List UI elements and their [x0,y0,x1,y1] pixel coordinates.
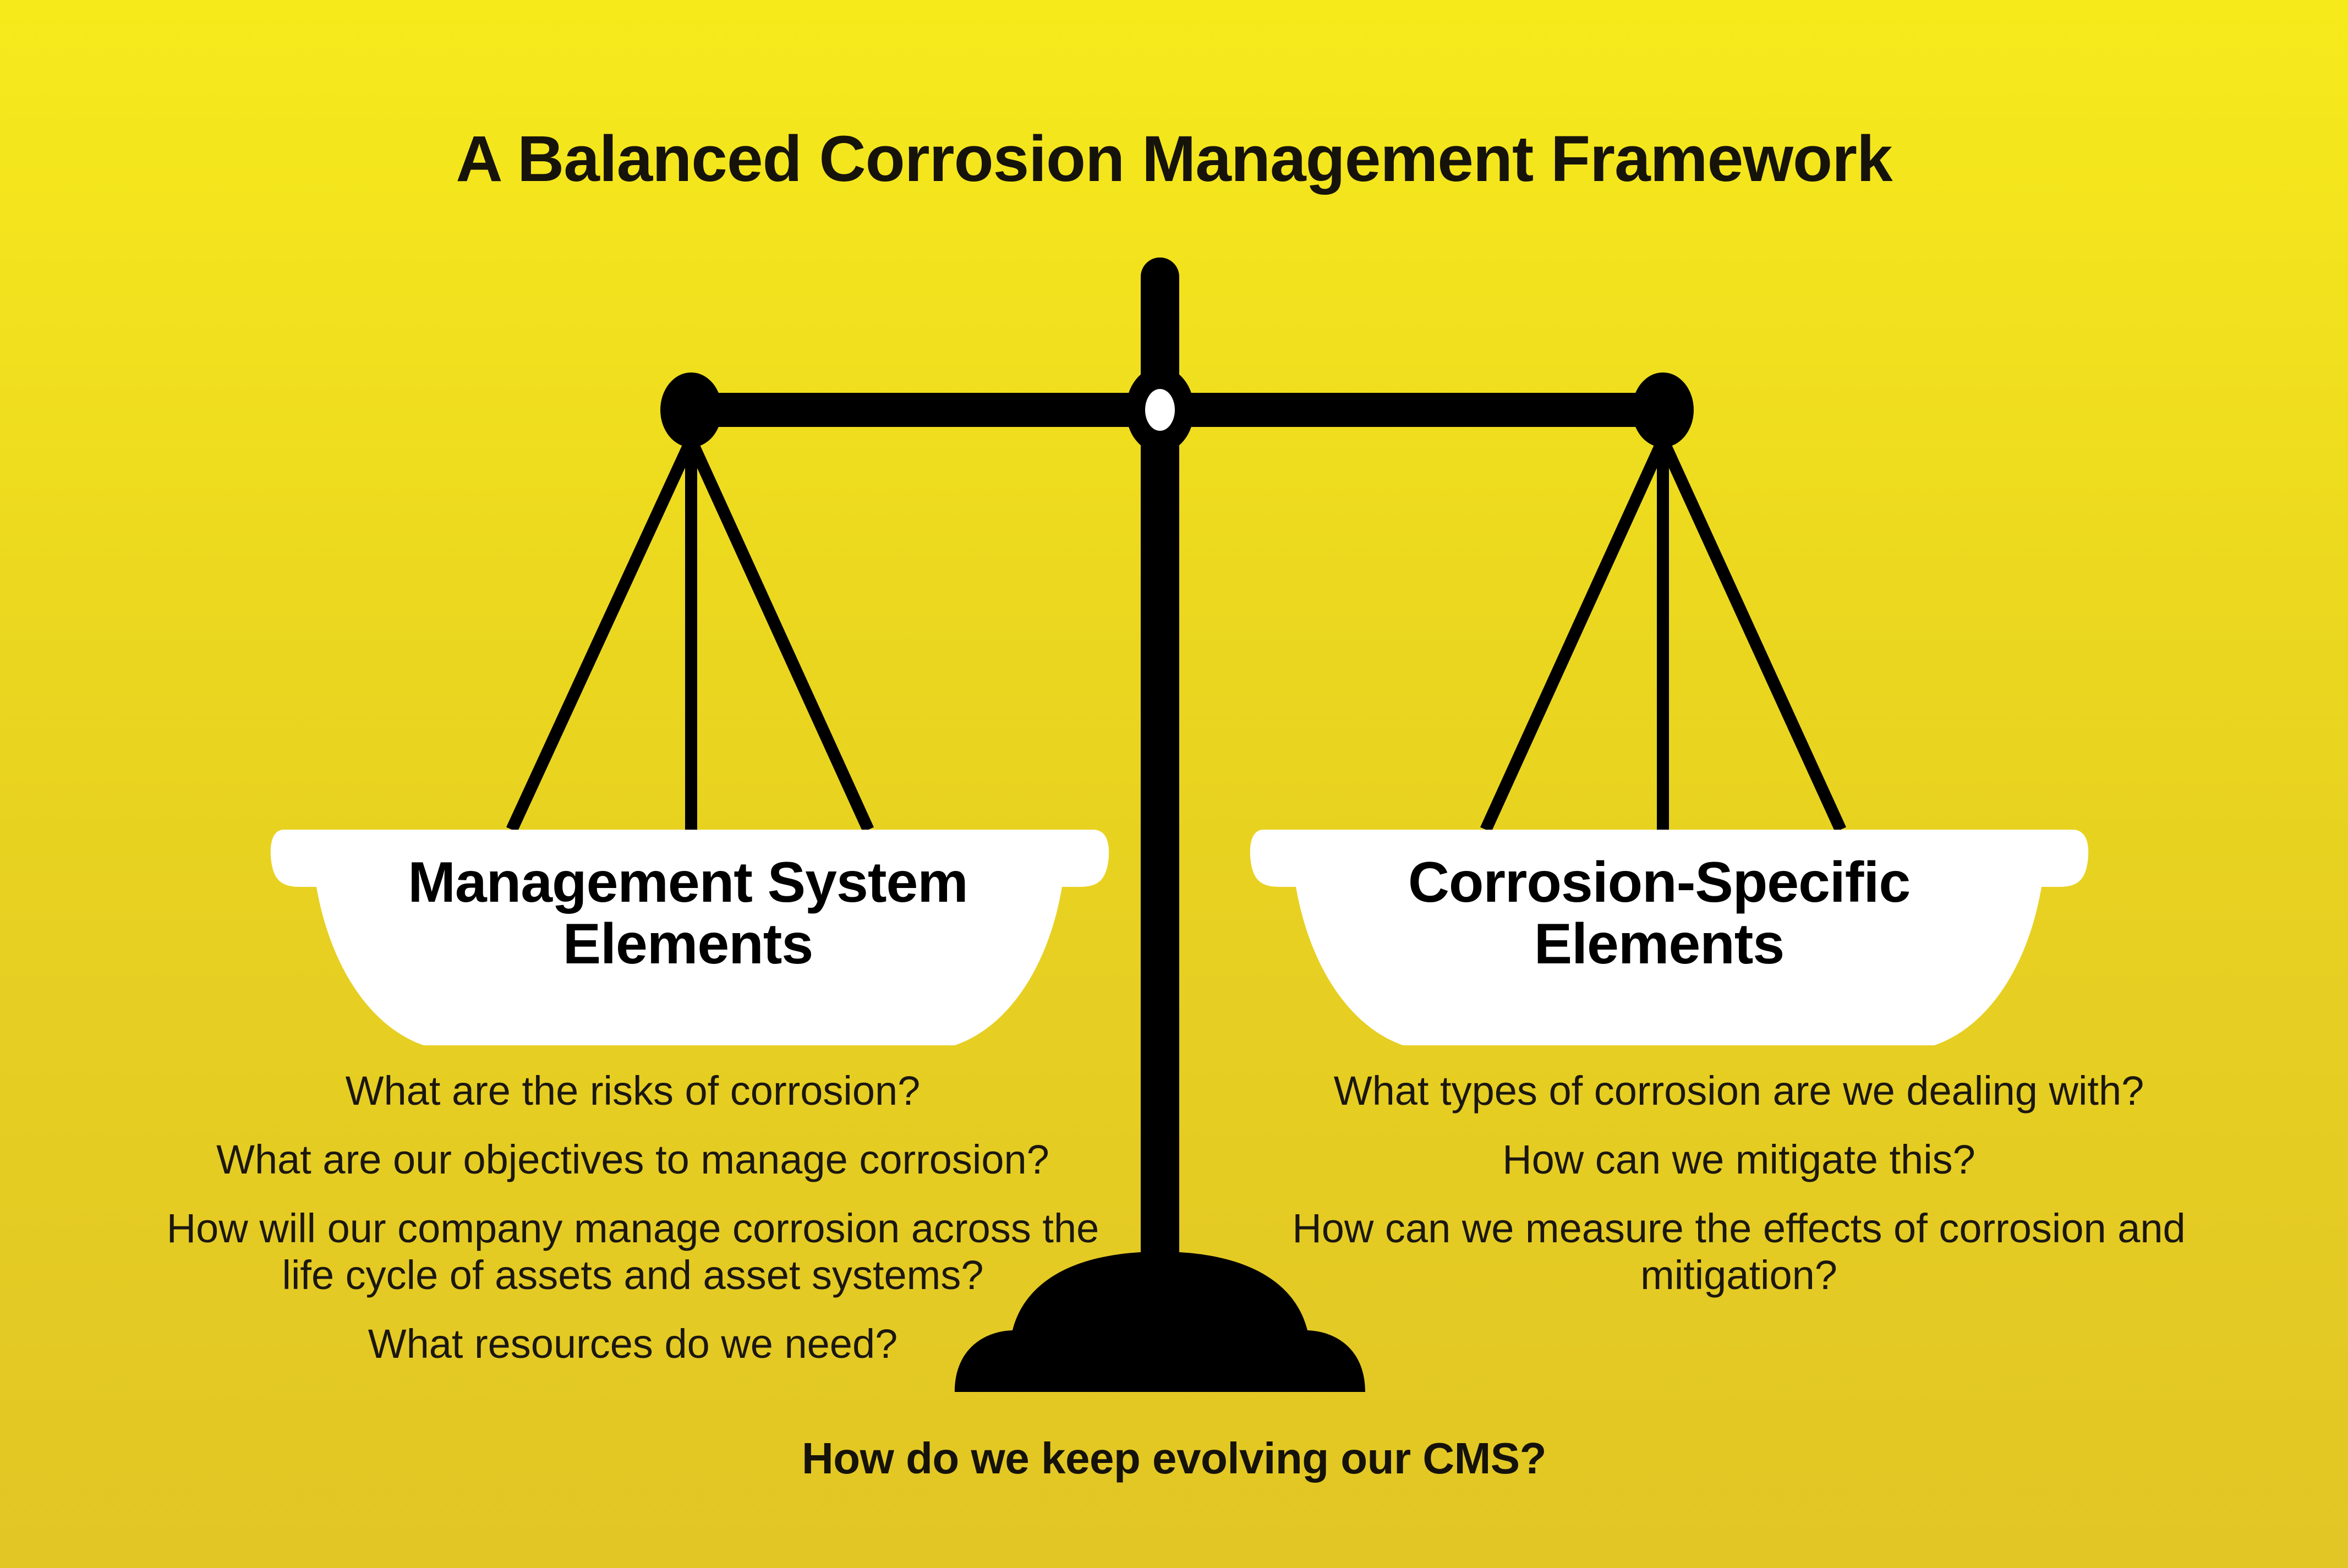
scale-beam-knob-right [1632,372,1694,447]
pan-label-left-line1: Management System [308,852,1068,913]
question-item: What are our objectives to manage corros… [165,1136,1101,1183]
scale-pivot-hole [1145,389,1175,431]
question-list-right: What types of corrosion are we dealing w… [1277,1067,2201,1298]
question-item: What types of corrosion are we dealing w… [1277,1067,2201,1114]
question-item: How can we measure the effects of corros… [1277,1205,2201,1298]
pan-label-left: Management System Elements [308,852,1068,975]
infographic-canvas: A Balanced Corrosion Management Framewor… [0,0,2348,1568]
pan-label-right: Corrosion-Specific Elements [1271,852,2047,975]
question-item: How can we mitigate this? [1277,1136,2201,1183]
question-item: What are the risks of corrosion? [165,1067,1101,1114]
pan-label-left-line2: Elements [308,913,1068,975]
scale-beam-knob-left [660,372,722,447]
scale-strings-left [512,440,868,830]
question-list-left: What are the risks of corrosion? What ar… [165,1067,1101,1367]
question-item: What resources do we need? [165,1320,1101,1367]
pan-label-right-line1: Corrosion-Specific [1271,852,2047,913]
bottom-caption: How do we keep evolving our CMS? [0,1433,2348,1484]
question-item: How will our company manage corrosion ac… [165,1205,1101,1298]
pan-label-right-line2: Elements [1271,913,2047,975]
scale-strings-right [1486,440,1841,830]
